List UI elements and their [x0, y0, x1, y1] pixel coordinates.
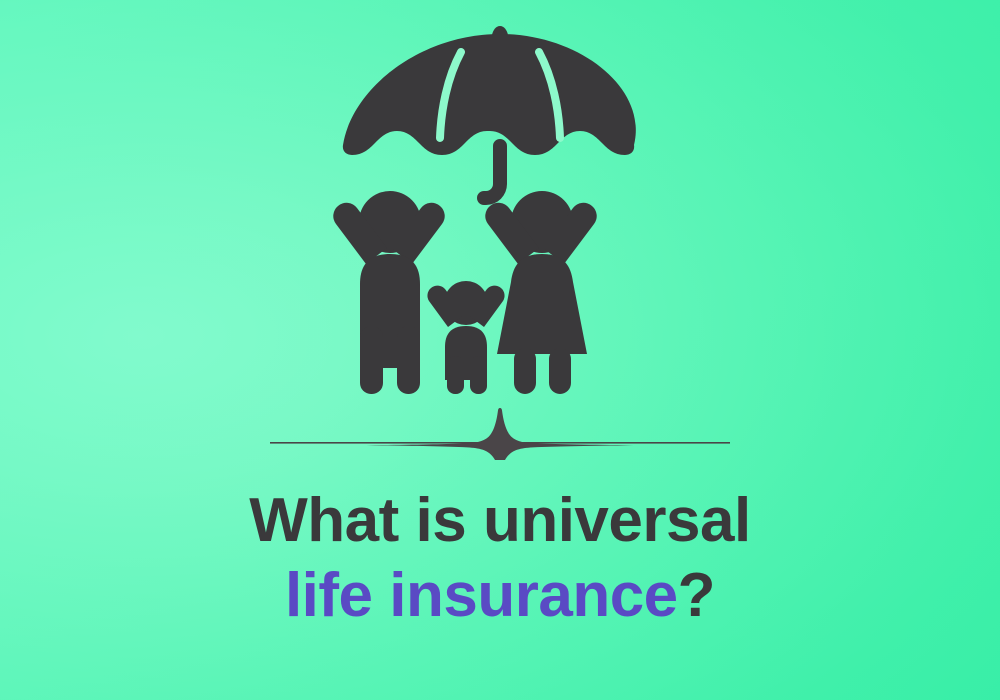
umbrella-handle-icon: [477, 139, 507, 205]
umbrella-icon: [343, 26, 636, 155]
page-title: What is universal life insurance?: [249, 486, 750, 631]
ornamental-divider: [270, 406, 730, 462]
headline-line-2: life insurance?: [249, 561, 750, 630]
card-content: What is universal life insurance?: [0, 0, 1000, 700]
headline-accent-text: life insurance: [285, 561, 678, 630]
child-figure-icon: [427, 281, 504, 394]
insurance-title-card: What is universal life insurance?: [0, 0, 1000, 700]
headline-line-1: What is universal: [249, 486, 750, 555]
family-under-umbrella-icon: [320, 26, 680, 396]
headline-question-mark: ?: [678, 561, 715, 630]
